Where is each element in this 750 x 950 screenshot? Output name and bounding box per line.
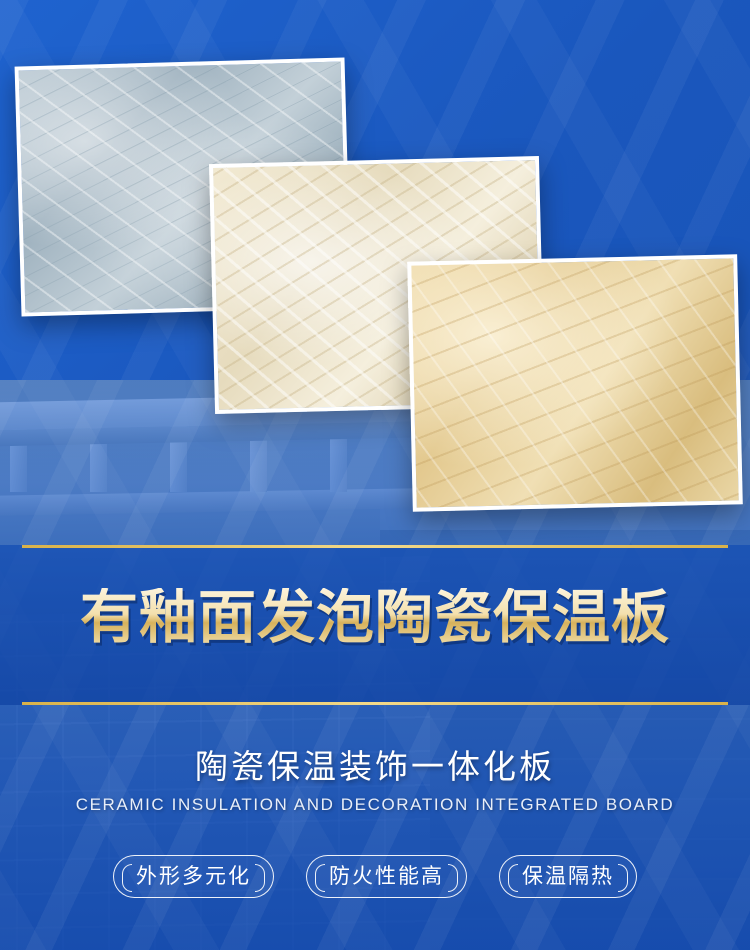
subtitle-chinese: 陶瓷保温装饰一体化板 <box>0 740 750 788</box>
subtitle-english: CERAMIC INSULATION AND DECORATION INTEGR… <box>0 795 750 815</box>
gold-rule-top <box>22 545 728 548</box>
tile-sample-beige <box>407 254 743 511</box>
marble-veins <box>407 254 743 511</box>
feature-pill-3: 保温隔热 <box>499 855 637 898</box>
product-poster: 有釉面发泡陶瓷保温板 陶瓷保温装饰一体化板 CERAMIC INSULATION… <box>0 0 750 950</box>
headline-title: 有釉面发泡陶瓷保温板 <box>0 588 750 646</box>
feature-pill-1: 外形多元化 <box>113 855 274 898</box>
feature-pill-2: 防火性能高 <box>306 855 467 898</box>
feature-pill-group: 外形多元化 防火性能高 保温隔热 <box>0 855 750 898</box>
gold-rule-bottom <box>22 702 728 705</box>
